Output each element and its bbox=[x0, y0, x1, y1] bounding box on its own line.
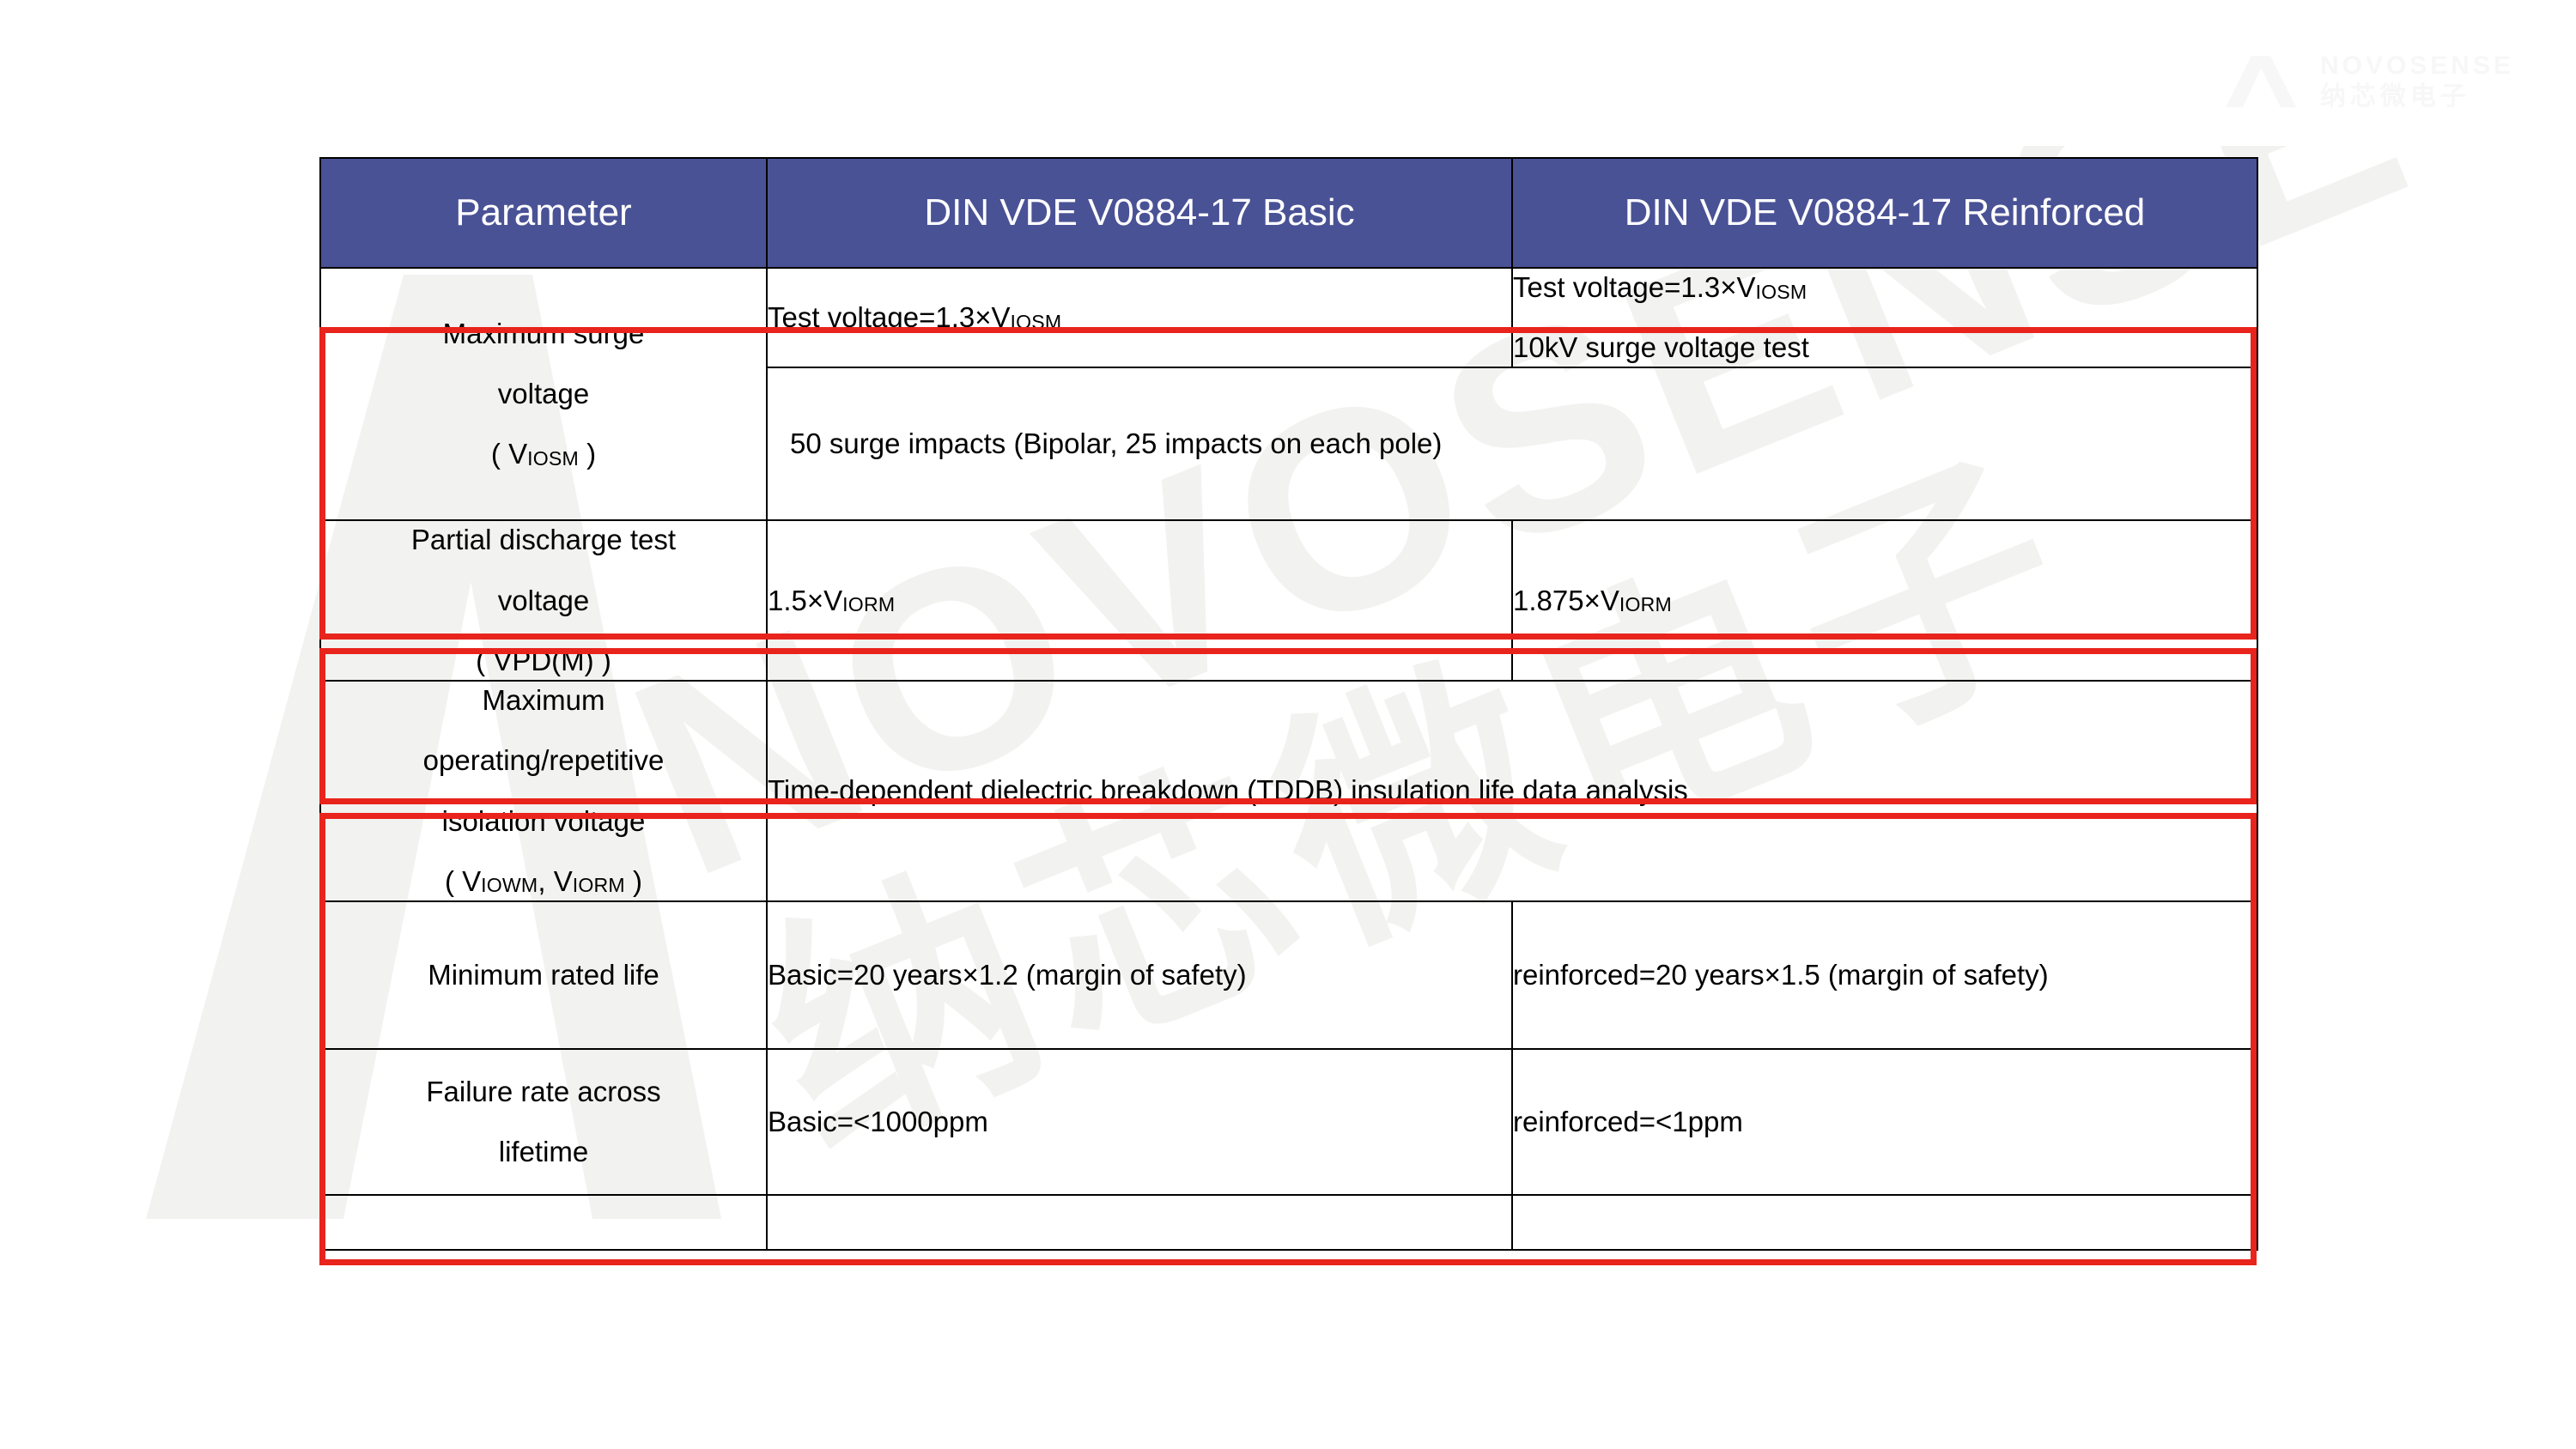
cell-basic-partial-discharge-voltage: 1.5×VIORM bbox=[767, 520, 1512, 681]
param-symbol-mid: , V bbox=[538, 865, 572, 897]
param-symbol-sub: IORM bbox=[573, 874, 625, 896]
cell-basic-failure-rate: Basic=<1000ppm bbox=[767, 1049, 1512, 1195]
cell-tddb-analysis: Time-dependent dielectric breakdown (TDD… bbox=[767, 681, 2257, 901]
table-row bbox=[320, 1195, 2257, 1250]
cell-param-maximum-isolation-voltage: Maximum operating/repetitive isolation v… bbox=[320, 681, 767, 901]
table-row: Maximum operating/repetitive isolation v… bbox=[320, 681, 2257, 901]
value-text: 1.5×V bbox=[768, 585, 842, 616]
table-header: Parameter DIN VDE V0884-17 Basic DIN VDE… bbox=[320, 158, 2257, 268]
param-line: Minimum rated life bbox=[321, 956, 766, 994]
cell-param-blank bbox=[320, 1195, 767, 1250]
table-body: Maximum surge voltage ( VIOSM ) Test vol… bbox=[320, 268, 2257, 1250]
value-subscript: IORM bbox=[842, 593, 895, 615]
brand-name-cn: 纳芯微电子 bbox=[2320, 84, 2514, 110]
value-text: Test voltage=1.3×V bbox=[768, 301, 1011, 333]
brand-logo: NOVOSENSE 纳芯微电子 bbox=[2222, 53, 2514, 110]
table-row: Minimum rated life Basic=20 years×1.2 (m… bbox=[320, 901, 2257, 1049]
param-line: isolation voltage bbox=[321, 803, 766, 840]
value-subscript: IORM bbox=[1619, 593, 1672, 615]
comparison-table-container: Parameter DIN VDE V0884-17 Basic DIN VDE… bbox=[319, 157, 2257, 1251]
value-subscript: IOSM bbox=[1011, 311, 1062, 333]
cell-reinforced-minimum-rated-life: reinforced=20 years×1.5 (margin of safet… bbox=[1512, 901, 2257, 1049]
brand-name-en: NOVOSENSE bbox=[2320, 53, 2514, 79]
table-row: Failure rate across lifetime Basic=<1000… bbox=[320, 1049, 2257, 1195]
cell-reinforced-surge-test-voltage: Test voltage=1.3×VIOSM 10kV surge voltag… bbox=[1512, 268, 2257, 367]
param-line: Partial discharge test bbox=[321, 521, 766, 559]
param-symbol-suffix: ) bbox=[625, 865, 642, 897]
column-header-reinforced: DIN VDE V0884-17 Reinforced bbox=[1512, 158, 2257, 268]
param-line: Maximum surge bbox=[321, 315, 766, 353]
cell-basic-surge-test-voltage: Test voltage=1.3×VIOSM bbox=[767, 268, 1512, 367]
cell-reinforced-partial-discharge-voltage: 1.875×VIORM bbox=[1512, 520, 2257, 681]
cell-param-minimum-rated-life: Minimum rated life bbox=[320, 901, 767, 1049]
param-line: Failure rate across bbox=[321, 1073, 766, 1111]
param-symbol: ( VIOSM ) bbox=[321, 435, 766, 473]
novosense-logo-icon bbox=[2222, 54, 2305, 109]
header-row: Parameter DIN VDE V0884-17 Basic DIN VDE… bbox=[320, 158, 2257, 268]
table-row: Maximum surge voltage ( VIOSM ) Test vol… bbox=[320, 268, 2257, 367]
param-symbol-sub: IOSM bbox=[527, 447, 579, 470]
param-line: lifetime bbox=[321, 1133, 766, 1171]
cell-basic-minimum-rated-life: Basic=20 years×1.2 (margin of safety) bbox=[767, 901, 1512, 1049]
param-line: operating/repetitive bbox=[321, 742, 766, 779]
param-symbol-sub: IOWM bbox=[481, 874, 538, 896]
value-line: 10kV surge voltage test bbox=[1513, 329, 2257, 367]
value-text: 1.875×V bbox=[1513, 585, 1619, 616]
din-vde-comparison-table: Parameter DIN VDE V0884-17 Basic DIN VDE… bbox=[319, 157, 2258, 1251]
param-symbol-suffix: ) bbox=[579, 438, 596, 470]
value-text: Test voltage=1.3×V bbox=[1513, 271, 1756, 303]
column-header-parameter: Parameter bbox=[320, 158, 767, 268]
value-subscript: IOSM bbox=[1756, 281, 1807, 303]
param-symbol-prefix: ( V bbox=[445, 865, 481, 897]
cell-reinforced-failure-rate: reinforced=<1ppm bbox=[1512, 1049, 2257, 1195]
param-symbol: ( VIOWM, VIORM ) bbox=[321, 863, 766, 900]
cell-surge-impacts-note: 50 surge impacts (Bipolar, 25 impacts on… bbox=[767, 367, 2257, 520]
cell-param-partial-discharge-test-voltage: Partial discharge test voltage ( VPD(M) … bbox=[320, 520, 767, 681]
cell-reinforced-blank bbox=[1512, 1195, 2257, 1250]
param-symbol-prefix: ( V bbox=[491, 438, 527, 470]
table-row: Partial discharge test voltage ( VPD(M) … bbox=[320, 520, 2257, 681]
value-line: Test voltage=1.3×VIOSM bbox=[768, 299, 1511, 336]
cell-basic-blank bbox=[767, 1195, 1512, 1250]
param-symbol: ( VPD(M) ) bbox=[321, 642, 766, 680]
cell-param-maximum-surge-voltage: Maximum surge voltage ( VIOSM ) bbox=[320, 268, 767, 520]
param-line: voltage bbox=[321, 582, 766, 620]
column-header-basic: DIN VDE V0884-17 Basic bbox=[767, 158, 1512, 268]
param-line: voltage bbox=[321, 375, 766, 413]
param-line: Maximum bbox=[321, 682, 766, 719]
value-line: Test voltage=1.3×VIOSM bbox=[1513, 269, 2257, 306]
cell-param-failure-rate: Failure rate across lifetime bbox=[320, 1049, 767, 1195]
